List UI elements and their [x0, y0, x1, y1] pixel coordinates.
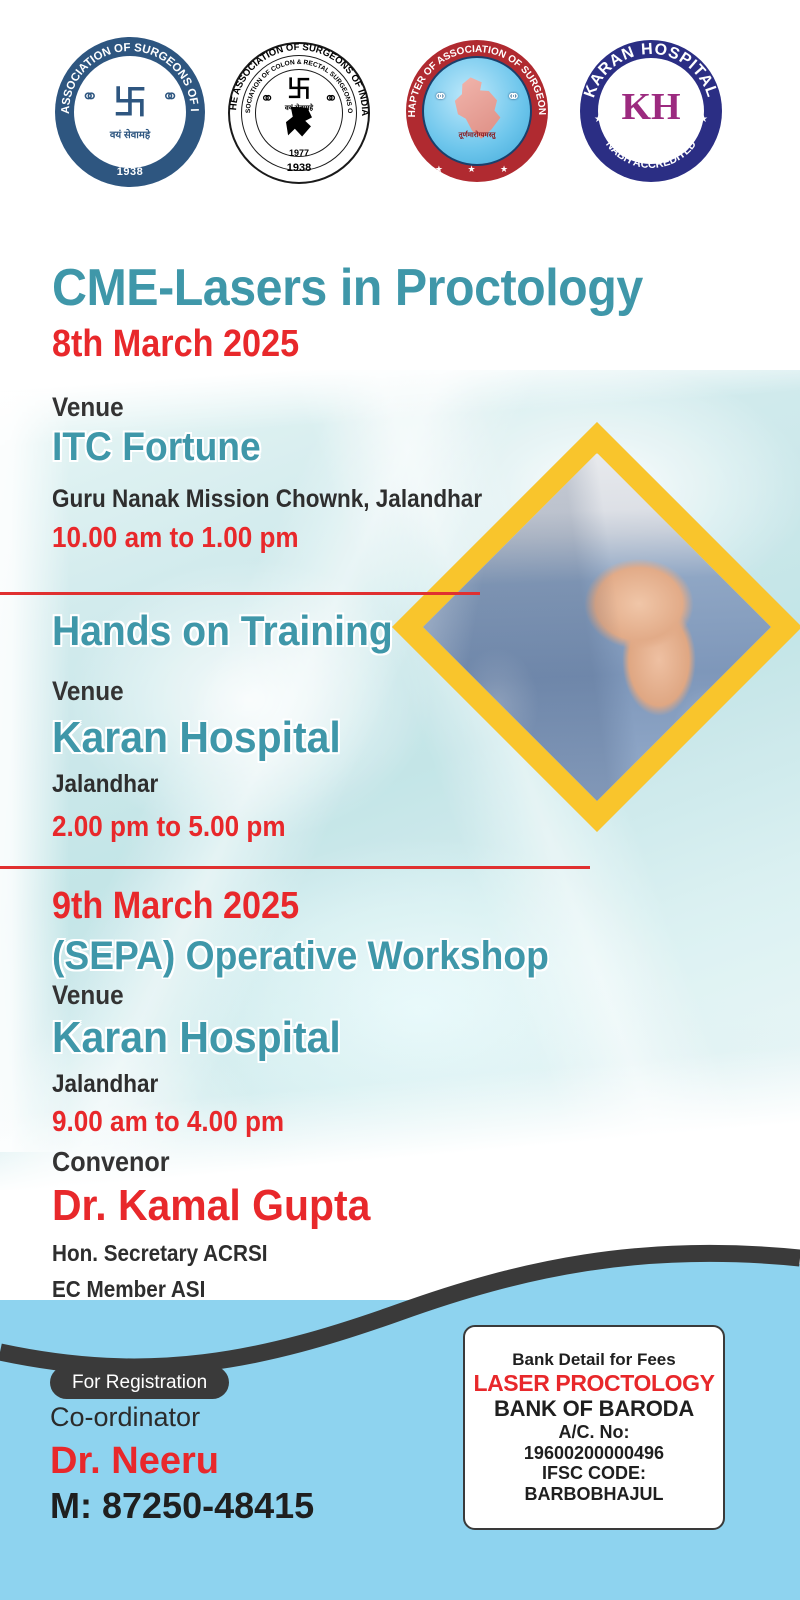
convenor-role-asi: EC Member ASI — [52, 1278, 205, 1301]
swastika-icon: 卐 — [113, 86, 147, 120]
session3-title: (SEPA) Operative Workshop — [52, 936, 549, 976]
session1-address: Guru Nanak Mission Chownk, Jalandhar — [52, 487, 482, 512]
event-date-2: 9th March 2025 — [52, 887, 299, 925]
coordinator-label: Co-ordinator — [50, 1404, 200, 1431]
session2-address: Jalandhar — [52, 772, 158, 797]
asi-motto: वयं सेवामहे — [55, 127, 205, 141]
acrsi-year-inner: 1977 — [228, 148, 370, 158]
logo-bar: THE ASSOCIATION OF SURGEONS OF INDIA ⚭ ⚭… — [0, 0, 800, 215]
swastika-icon: 卐 — [287, 78, 311, 102]
bank-name: BANK OF BARODA — [494, 1396, 694, 1422]
yellow-diamond-border — [392, 422, 800, 832]
asi-logo: THE ASSOCIATION OF SURGEONS OF INDIA ⚭ ⚭… — [55, 37, 205, 187]
bank-ifsc-code: BARBOBHAJUL — [525, 1484, 664, 1505]
punjab-motto: तूर्णमारोग्यमस्तु — [406, 131, 548, 140]
bank-box-title: Bank Detail for Fees — [512, 1350, 675, 1370]
session3-venue-name: Karan Hospital — [52, 1016, 341, 1060]
session3-venue-label: Venue — [52, 982, 124, 1009]
acrsi-year: 1938 — [228, 162, 370, 174]
stars-icon: ★ ★ ★ — [406, 164, 548, 175]
convenor-label: Convenor — [52, 1148, 170, 1176]
session3-address: Jalandhar — [52, 1072, 158, 1097]
poster-root: THE ASSOCIATION OF SURGEONS OF INDIA ⚭ ⚭… — [0, 0, 800, 1600]
session1-time: 10.00 am to 1.00 pm — [52, 524, 299, 553]
bank-ac-label: A/C. No: — [559, 1422, 630, 1443]
bank-ac-number: 19600200000496 — [524, 1443, 664, 1464]
bank-ifsc-label: IFSC CODE: — [542, 1463, 646, 1484]
convenor-name: Dr. Kamal Gupta — [52, 1184, 370, 1228]
asclepius-snake-icon: ⚭ — [161, 85, 179, 110]
session2-title: Hands on Training — [52, 610, 393, 652]
karan-monogram: KH — [621, 88, 680, 126]
bank-detail-box: Bank Detail for Fees LASER PROCTOLOGY BA… — [463, 1325, 725, 1530]
session3-time: 9.00 am to 4.00 pm — [52, 1108, 284, 1137]
asi-year: 1938 — [55, 166, 205, 178]
coordinator-name: Dr. Neeru — [50, 1442, 219, 1480]
section-divider — [0, 592, 480, 595]
session2-venue-label: Venue — [52, 678, 124, 705]
star-icon: ★ — [594, 114, 603, 125]
convenor-role-acrsi: Hon. Secretary ACRSI — [52, 1242, 268, 1265]
asclepius-snake-icon: ⚭ — [506, 86, 521, 107]
asclepius-snake-icon: ⚭ — [81, 85, 99, 110]
bank-account-name: LASER PROCTOLOGY — [473, 1370, 714, 1397]
session2-venue-name: Karan Hospital — [52, 716, 341, 760]
event-date-1: 8th March 2025 — [52, 325, 299, 363]
coordinator-phone[interactable]: M: 87250-48415 — [50, 1488, 314, 1524]
session1-venue-name: ITC Fortune — [52, 427, 261, 467]
session2-time: 2.00 pm to 5.00 pm — [52, 813, 286, 842]
karan-hospital-logo: KARAN HOSPITAL NABH ACCREDITED ★ ★ KH — [580, 40, 722, 182]
for-registration-badge: For Registration — [50, 1366, 229, 1399]
star-icon: ★ — [699, 114, 708, 125]
session1-venue-label: Venue — [52, 394, 124, 421]
asclepius-snake-icon: ⚭ — [433, 86, 448, 107]
acrsi-logo: THE ASSOCIATION OF SURGEONS OF INDIA THE… — [228, 42, 370, 184]
section-divider — [0, 866, 590, 869]
punjab-chapter-logo: PUNJAB CHAPTER OF ASSOCIATION OF SURGEON… — [406, 40, 548, 182]
page-title: CME-Lasers in Proctology — [52, 262, 643, 314]
